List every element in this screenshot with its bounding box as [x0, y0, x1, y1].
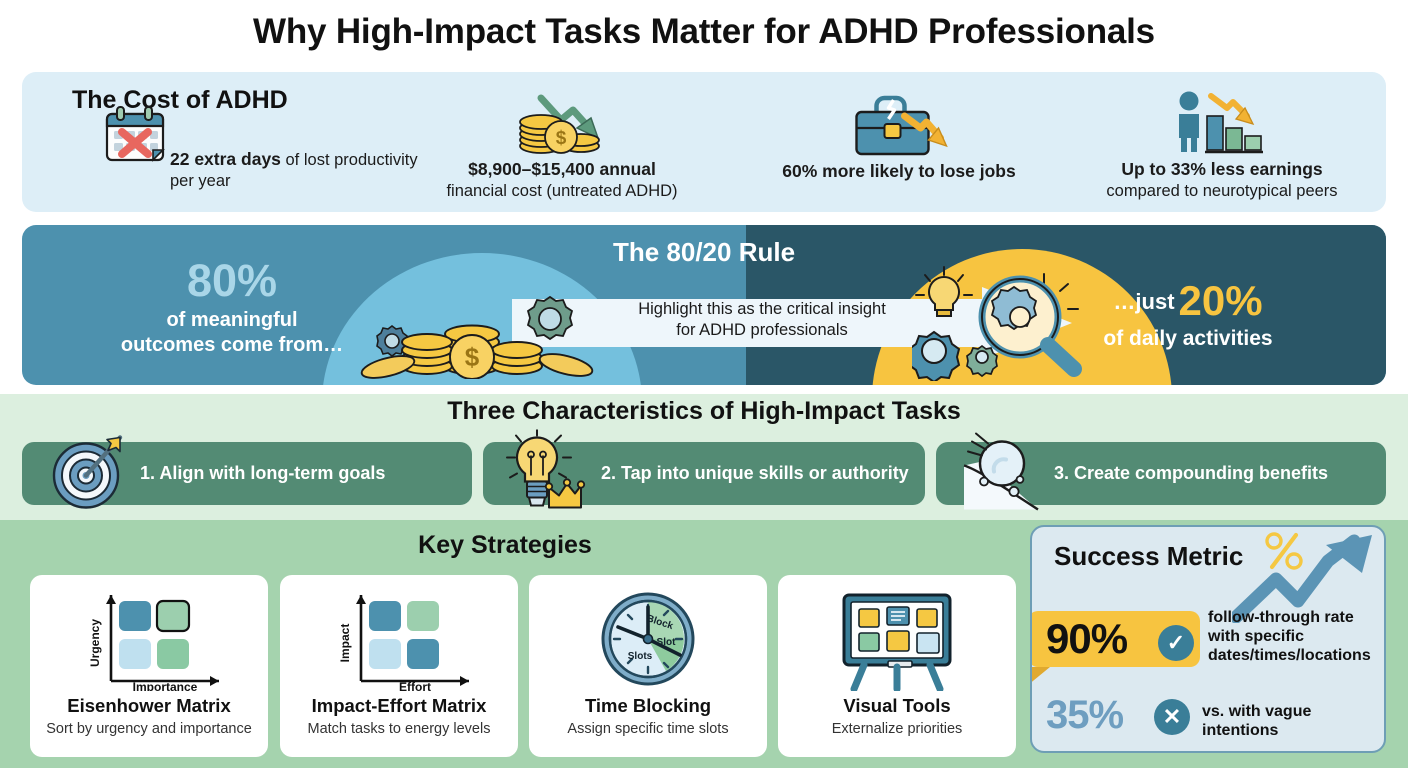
success-primary-percent: 90% — [1046, 615, 1127, 663]
strategy-title: Eisenhower Matrix — [30, 695, 268, 717]
impact-effort-matrix-icon: Impact Effort — [319, 587, 479, 696]
strategy-card[interactable]: Impact Effort Impact-Effort Matrix Match… — [280, 575, 518, 757]
cost-item: Up to 33% less earnings compared to neur… — [1052, 72, 1392, 212]
cost-item: $ $8,900–$15,400 annual financial cost (… — [397, 72, 727, 212]
strategy-card[interactable]: Urgency Importance Eisenhower Matrix Sor… — [30, 575, 268, 757]
svg-text:$: $ — [465, 342, 480, 372]
success-metric-panel: Success Metric 90% ✓ follow-through rate… — [1030, 525, 1386, 753]
rule-left-line1: of meaningful — [166, 309, 297, 331]
characteristic-label: 3. Create compounding benefits — [1054, 463, 1374, 485]
cost-item-bold: 22 extra days — [170, 149, 281, 169]
cost-item-text: $8,900–$15,400 annual financial cost (un… — [397, 158, 727, 202]
cross-icon: ✕ — [1154, 699, 1190, 735]
success-secondary-percent: 35% — [1046, 693, 1123, 738]
person-bar-chart-down-icon — [1163, 90, 1281, 161]
svg-text:Effort: Effort — [399, 680, 431, 691]
calendar-x-icon — [104, 106, 166, 169]
check-icon: ✓ — [1158, 625, 1194, 661]
snowball-rolling-icon — [954, 429, 1046, 518]
cost-item-text: 60% more likely to lose jobs — [734, 160, 1064, 183]
characteristic-item: 3. Create compounding benefits — [936, 442, 1386, 505]
characteristics-heading: Three Characteristics of High-Impact Tas… — [0, 397, 1408, 426]
characteristics-band: Three Characteristics of High-Impact Tas… — [0, 394, 1408, 520]
strategy-title: Time Blocking — [529, 695, 767, 717]
svg-text:Impact: Impact — [338, 624, 352, 663]
whiteboard-sticky-notes-icon — [836, 591, 958, 696]
target-arrow-icon — [46, 429, 130, 518]
success-badge-tail — [1030, 667, 1050, 685]
strategy-subtitle: Assign specific time slots — [529, 721, 767, 737]
strategy-subtitle: Match tasks to energy levels — [280, 721, 518, 737]
strategy-subtitle: Externalize priorities — [778, 721, 1016, 737]
strategy-title: Impact-Effort Matrix — [280, 695, 518, 717]
characteristic-label: 1. Align with long-term goals — [140, 463, 460, 485]
strategies-heading: Key Strategies — [0, 531, 1010, 560]
lightbulb-crown-icon — [501, 429, 591, 518]
strategy-card[interactable]: Block Slot Slots Time Blocking Assign sp… — [529, 575, 767, 757]
success-primary-description: follow-through rate with specific dates/… — [1208, 609, 1386, 666]
page-title: Why High-Impact Tasks Matter for ADHD Pr… — [0, 12, 1408, 52]
rule-right-line2: of daily activities — [1038, 327, 1338, 351]
rule-arrow-text: Highlight this as the critical insight f… — [542, 299, 982, 342]
svg-text:Urgency: Urgency — [88, 619, 102, 667]
strategy-card[interactable]: Visual Tools Externalize priorities — [778, 575, 1016, 757]
cost-item-rest: financial cost (untreated ADHD) — [446, 182, 677, 200]
cost-item: 22 extra days of lost productivity per y… — [62, 72, 392, 212]
rule-left-line2: outcomes come from… — [121, 334, 343, 356]
rule-arrow-line2: for ADHD professionals — [676, 321, 848, 339]
rule-right-percent: 20% — [1179, 277, 1263, 324]
strategy-subtitle: Sort by urgency and importance — [30, 721, 268, 737]
cost-item-bold: $8,900–$15,400 annual — [468, 159, 656, 179]
eighty-twenty-rule-panel: $ — [22, 225, 1386, 385]
cost-item-bold: 60% more likely to lose jobs — [782, 161, 1015, 181]
strategy-title: Visual Tools — [778, 695, 1016, 717]
rule-arrow-line1: Highlight this as the critical insight — [638, 300, 886, 318]
infographic-page: Why High-Impact Tasks Matter for ADHD Pr… — [0, 0, 1408, 768]
cost-item-text: Up to 33% less earnings compared to neur… — [1052, 158, 1392, 202]
rule-right-prefix: …just — [1113, 289, 1174, 314]
coins-down-arrow-icon: $ — [503, 94, 621, 161]
rule-left-stat: 80% of meaningful outcomes come from… — [82, 257, 382, 358]
svg-text:$: $ — [556, 128, 567, 149]
cost-item: 60% more likely to lose jobs — [734, 72, 1064, 212]
svg-text:Importance: Importance — [133, 680, 198, 691]
cost-item-text: 22 extra days of lost productivity per y… — [170, 148, 420, 192]
characteristic-item: 2. Tap into unique skills or authority — [483, 442, 925, 505]
rule-right-stat: …just20% of daily activities — [1038, 277, 1338, 351]
rule-left-percent: 80% — [82, 257, 382, 304]
eisenhower-matrix-icon: Urgency Importance — [69, 587, 229, 696]
characteristic-label: 2. Tap into unique skills or authority — [601, 463, 913, 485]
svg-text:Slot: Slot — [657, 637, 677, 648]
characteristic-item: 1. Align with long-term goals — [22, 442, 472, 505]
clock-icon: Block Slot Slots — [596, 589, 700, 694]
success-secondary-description: vs. with vague intentions — [1202, 703, 1382, 741]
briefcase-down-arrow-icon — [837, 94, 962, 161]
cost-of-adhd-panel: The Cost of ADHD — [22, 72, 1386, 212]
success-metric-title: Success Metric — [1054, 541, 1243, 572]
cost-item-rest: compared to neurotypical peers — [1106, 182, 1337, 200]
cost-item-bold: Up to 33% less earnings — [1121, 159, 1322, 179]
svg-text:Slots: Slots — [628, 651, 653, 662]
